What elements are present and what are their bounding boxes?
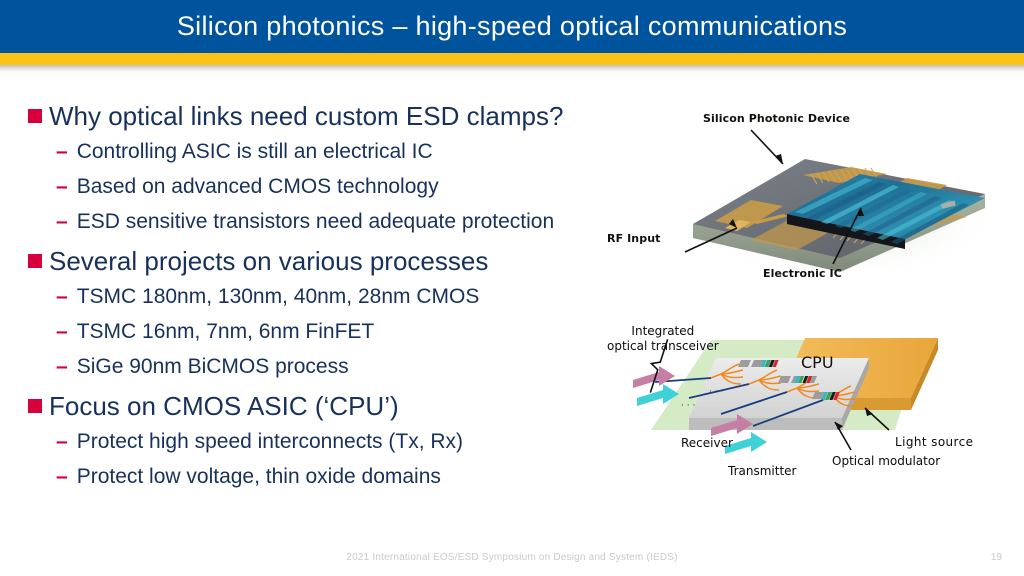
- dash-bullet-icon: –: [56, 206, 68, 238]
- svg-text:· · ·: · · ·: [709, 387, 723, 397]
- page-title: Silicon photonics – high-speed optical c…: [0, 0, 1024, 53]
- diagram-label-cpu: CPU: [801, 353, 834, 372]
- sub-bullet-label: Protect low voltage, thin oxide domains: [77, 461, 441, 493]
- bullet-heading: Why optical links need custom ESD clamps…: [28, 98, 678, 134]
- page-number: 19: [991, 552, 1002, 563]
- diagram-label-integrated-optical-transceiver: Integrated optical transceiver: [607, 324, 719, 354]
- photo-label-rf-input: RF Input: [607, 232, 661, 245]
- sub-bullet-label: SiGe 90nm BiCMOS process: [77, 351, 349, 383]
- sub-bullet-label: Protect high speed interconnects (Tx, Rx…: [77, 426, 463, 458]
- title-accent-rule: [0, 53, 1024, 65]
- sub-bullet-label: Controlling ASIC is still an electrical …: [77, 136, 433, 168]
- sub-bullet-label: Based on advanced CMOS technology: [77, 171, 439, 203]
- square-bullet-icon: [28, 399, 42, 413]
- bullet-heading-label: Focus on CMOS ASIC (‘CPU’): [49, 388, 399, 424]
- diagram-label-transmitter: Transmitter: [728, 464, 796, 478]
- sub-bullet: – TSMC 180nm, 130nm, 40nm, 28nm CMOS: [28, 281, 678, 313]
- photo-label-electronic-ic: Electronic IC: [763, 267, 842, 280]
- photo-label-silicon-photonic-device: Silicon Photonic Device: [703, 112, 850, 125]
- integrated-optical-transceiver-diagram: · · · · · ·: [593, 322, 1018, 490]
- photo-illustration: [655, 112, 1015, 287]
- silicon-photonic-device-photo: Silicon Photonic Device RF Input Electro…: [655, 112, 1015, 287]
- bullet-group: Focus on CMOS ASIC (‘CPU’) – Protect hig…: [28, 388, 678, 493]
- bullet-heading-label: Several projects on various processes: [49, 243, 488, 279]
- footer-text: 2021 International EOS/ESD Symposium on …: [0, 552, 1024, 563]
- slide-canvas: Silicon photonics – high-speed optical c…: [0, 0, 1024, 576]
- sub-bullet: – Protect low voltage, thin oxide domain…: [28, 461, 678, 493]
- dash-bullet-icon: –: [56, 461, 68, 493]
- sub-bullet: – Controlling ASIC is still an electrica…: [28, 136, 678, 168]
- dash-bullet-icon: –: [56, 136, 68, 168]
- sub-bullet: – ESD sensitive transistors need adequat…: [28, 206, 678, 238]
- svg-text:· · ·: · · ·: [681, 401, 695, 411]
- square-bullet-icon: [28, 109, 42, 123]
- bullet-heading: Focus on CMOS ASIC (‘CPU’): [28, 388, 678, 424]
- sub-bullet-label: ESD sensitive transistors need adequate …: [77, 206, 554, 238]
- dash-bullet-icon: –: [56, 316, 68, 348]
- sub-bullet: – Protect high speed interconnects (Tx, …: [28, 426, 678, 458]
- bullet-content: Why optical links need custom ESD clamps…: [28, 98, 678, 498]
- sub-bullet: – Based on advanced CMOS technology: [28, 171, 678, 203]
- sub-bullet-label: TSMC 16nm, 7nm, 6nm FinFET: [77, 316, 375, 348]
- diagram-label-optical-modulator: Optical modulator: [832, 454, 940, 468]
- dash-bullet-icon: –: [56, 281, 68, 313]
- sub-bullet: – TSMC 16nm, 7nm, 6nm FinFET: [28, 316, 678, 348]
- bullet-group: Why optical links need custom ESD clamps…: [28, 98, 678, 238]
- dash-bullet-icon: –: [56, 351, 68, 383]
- diagram-label-light-source: Light source: [895, 435, 973, 449]
- dash-bullet-icon: –: [56, 171, 68, 203]
- title-shadow: [0, 65, 1024, 72]
- square-bullet-icon: [28, 254, 42, 268]
- bullet-group: Several projects on various processes – …: [28, 243, 678, 383]
- dash-bullet-icon: –: [56, 426, 68, 458]
- sub-bullet: – SiGe 90nm BiCMOS process: [28, 351, 678, 383]
- bullet-heading-label: Why optical links need custom ESD clamps…: [49, 98, 563, 134]
- integrated-line-2: optical transceiver: [607, 339, 719, 353]
- integrated-line-1: Integrated: [631, 324, 694, 338]
- sub-bullet-label: TSMC 180nm, 130nm, 40nm, 28nm CMOS: [77, 281, 480, 313]
- diagram-label-receiver: Receiver: [681, 436, 733, 450]
- bullet-heading: Several projects on various processes: [28, 243, 678, 279]
